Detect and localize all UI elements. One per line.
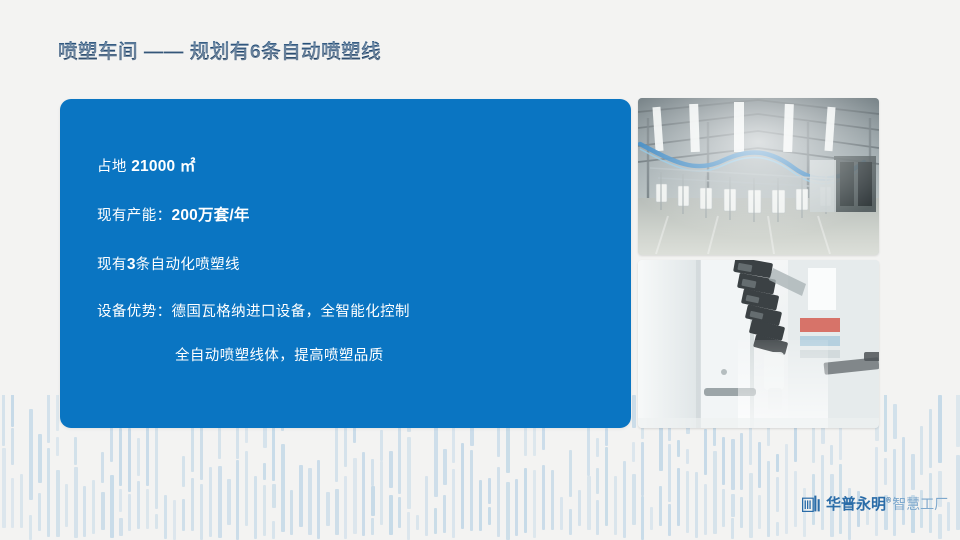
pattern-bar bbox=[281, 444, 285, 532]
info-panel: 占地 21000 ㎡ 现有产能：200万套/年 现有3条自动化喷塑线 设备优势：… bbox=[60, 99, 631, 428]
pattern-bar bbox=[893, 404, 897, 439]
pattern-bar bbox=[551, 470, 554, 530]
pattern-bar bbox=[776, 454, 779, 472]
pattern-bar bbox=[794, 471, 797, 527]
pattern-bar bbox=[29, 515, 32, 540]
panel-line-quality: 全自动喷塑线体，提高喷塑品质 bbox=[175, 349, 384, 364]
pattern-bar bbox=[434, 508, 437, 534]
pattern-bar bbox=[407, 512, 410, 540]
pattern-bar bbox=[38, 493, 41, 531]
pattern-bar bbox=[74, 437, 77, 465]
pattern-bar bbox=[119, 518, 123, 536]
registered-mark: ® bbox=[886, 497, 891, 504]
pattern-bar bbox=[506, 482, 510, 540]
pattern-bar bbox=[407, 437, 411, 509]
panel-line-3-suffix: 条自动化喷塑线 bbox=[136, 257, 240, 273]
pattern-bar bbox=[785, 444, 788, 534]
page-title: 喷塑车间 —— 规划有6条自动喷塑线 bbox=[58, 35, 381, 64]
pattern-bar bbox=[929, 409, 932, 468]
pattern-bar bbox=[686, 449, 689, 464]
pattern-bar bbox=[146, 489, 149, 529]
pattern-bar bbox=[110, 475, 114, 538]
pattern-bar bbox=[47, 395, 50, 443]
pattern-bar bbox=[263, 485, 266, 536]
pattern-bar bbox=[596, 500, 599, 535]
pattern-bar bbox=[11, 428, 14, 465]
pattern-bar bbox=[128, 494, 131, 531]
pattern-bar bbox=[740, 497, 743, 528]
pattern-bar bbox=[182, 456, 185, 487]
panel-line-3-value: 3 bbox=[127, 256, 136, 273]
pattern-bar bbox=[443, 495, 446, 533]
pattern-bar bbox=[641, 496, 644, 540]
pattern-bar bbox=[236, 460, 239, 540]
pattern-bar bbox=[137, 438, 140, 476]
pattern-bar bbox=[731, 494, 735, 517]
pattern-bar bbox=[56, 437, 59, 456]
panel-line-1-unit: ㎡ bbox=[175, 158, 195, 175]
pattern-bar bbox=[56, 395, 59, 431]
pattern-bar bbox=[722, 489, 725, 527]
pattern-bar bbox=[398, 497, 401, 528]
pattern-bar bbox=[245, 451, 248, 526]
pattern-bar bbox=[704, 484, 707, 535]
panel-line-1-value: 21000 bbox=[131, 158, 175, 175]
pattern-bar bbox=[155, 426, 158, 509]
pattern-bar bbox=[623, 461, 626, 538]
pattern-bar bbox=[488, 507, 491, 525]
coating-equipment-photo bbox=[638, 260, 879, 428]
panel-line-3-prefix: 现有 bbox=[97, 257, 127, 273]
pattern-bar bbox=[371, 518, 374, 535]
pattern-bar bbox=[425, 476, 428, 536]
slide-header: 喷塑车间 —— 规划有6条自动喷塑线 bbox=[58, 34, 381, 64]
pattern-bar bbox=[11, 478, 14, 528]
pattern-bar bbox=[452, 469, 455, 538]
pattern-bar bbox=[695, 472, 698, 538]
pattern-bar bbox=[83, 486, 86, 537]
pattern-bar bbox=[218, 466, 222, 538]
pattern-bar bbox=[956, 455, 960, 530]
pattern-bar bbox=[587, 476, 591, 530]
pattern-bar bbox=[173, 500, 176, 540]
pattern-bar bbox=[56, 470, 60, 537]
panel-line-capacity: 现有产能：200万套/年 bbox=[97, 208, 250, 224]
pattern-bar bbox=[65, 484, 68, 527]
pattern-bar bbox=[938, 514, 942, 539]
slide-canvas: 喷塑车间 —— 规划有6条自动喷塑线 占地 21000 ㎡ 现有产能：200万套… bbox=[0, 0, 960, 540]
pattern-bar bbox=[632, 474, 636, 525]
pattern-bar bbox=[920, 426, 923, 475]
brand-logo: 华普永明®智慧工厂 bbox=[802, 492, 948, 514]
pattern-bar bbox=[389, 495, 393, 535]
pattern-bar bbox=[758, 442, 761, 488]
pattern-bar bbox=[182, 499, 185, 531]
pattern-bar bbox=[38, 434, 42, 483]
pattern-bar bbox=[758, 495, 761, 529]
pattern-bar bbox=[380, 461, 383, 525]
panel-line-1-prefix: 占地 bbox=[97, 159, 131, 175]
pattern-bar bbox=[254, 476, 257, 539]
pattern-bar bbox=[704, 429, 707, 475]
pattern-bar bbox=[380, 430, 383, 461]
factory-photo-graphic bbox=[638, 98, 879, 255]
pattern-bar bbox=[497, 467, 500, 537]
pattern-bar bbox=[776, 477, 779, 512]
panel-line-existing-lines: 现有3条自动化喷塑线 bbox=[97, 257, 240, 273]
pattern-bar bbox=[605, 428, 608, 446]
pattern-bar bbox=[155, 514, 158, 529]
pattern-bar bbox=[776, 522, 779, 536]
pattern-bar bbox=[677, 468, 680, 526]
pattern-bar bbox=[119, 428, 122, 486]
pattern-bar bbox=[524, 468, 527, 533]
pattern-bar bbox=[119, 489, 122, 512]
pattern-bar bbox=[677, 440, 680, 457]
pattern-bar bbox=[362, 452, 365, 536]
pattern-bar bbox=[479, 480, 482, 531]
pattern-bar bbox=[20, 474, 23, 528]
pattern-bar bbox=[731, 439, 735, 490]
pattern-bar bbox=[659, 486, 662, 526]
pattern-bar bbox=[101, 452, 104, 483]
pattern-bar bbox=[668, 444, 671, 502]
pattern-bar bbox=[371, 459, 374, 486]
factory-building-logo-icon bbox=[802, 495, 821, 512]
pattern-bar bbox=[884, 395, 887, 452]
pattern-bar bbox=[263, 463, 266, 480]
pattern-bar bbox=[326, 492, 330, 526]
pattern-bar bbox=[74, 467, 78, 538]
pattern-bar bbox=[650, 507, 653, 530]
pattern-bar bbox=[605, 447, 608, 526]
factory-overhead-conveyor-photo bbox=[638, 98, 879, 255]
pattern-bar bbox=[767, 461, 770, 537]
pattern-bar bbox=[461, 443, 464, 529]
pattern-bar bbox=[668, 504, 671, 536]
pattern-bar bbox=[353, 458, 357, 534]
pattern-bar bbox=[227, 479, 231, 525]
pattern-bar bbox=[272, 521, 275, 539]
pattern-bar bbox=[443, 449, 447, 485]
equipment-photo-graphic bbox=[638, 260, 879, 428]
pattern-bar bbox=[578, 490, 581, 526]
pattern-bar bbox=[884, 458, 887, 485]
pattern-bar bbox=[47, 448, 50, 537]
pattern-bar bbox=[632, 395, 636, 428]
pattern-bar bbox=[614, 476, 617, 535]
pattern-bar bbox=[911, 454, 915, 490]
panel-line-2-value: 200万套/年 bbox=[172, 207, 250, 224]
pattern-bar bbox=[956, 395, 960, 447]
pattern-bar bbox=[830, 445, 833, 465]
pattern-bar bbox=[2, 448, 6, 528]
pattern-bar bbox=[686, 471, 689, 533]
pattern-bar bbox=[191, 478, 194, 531]
pattern-bar bbox=[200, 484, 203, 540]
pattern-bar bbox=[632, 442, 635, 462]
panel-line-equipment-advantage: 设备优势：德国瓦格纳进口设备，全智能化控制 bbox=[97, 305, 410, 320]
panel-line-area: 占地 21000 ㎡ bbox=[97, 159, 196, 175]
pattern-bar bbox=[749, 473, 753, 538]
brand-sub-text: 智慧工厂 bbox=[892, 496, 948, 512]
pattern-bar bbox=[569, 450, 572, 497]
pattern-bar bbox=[209, 467, 212, 537]
pattern-bar bbox=[335, 489, 339, 535]
pattern-bar bbox=[731, 518, 734, 539]
pattern-bar bbox=[11, 395, 14, 427]
pattern-bar bbox=[596, 438, 599, 457]
pattern-bar bbox=[740, 433, 743, 490]
pattern-bar bbox=[470, 450, 473, 531]
pattern-bar bbox=[128, 428, 131, 492]
brand-main-text: 华普永明 bbox=[826, 496, 886, 513]
pattern-bar bbox=[371, 486, 375, 516]
pattern-bar bbox=[416, 515, 419, 530]
pattern-bar bbox=[389, 451, 393, 488]
pattern-bar bbox=[308, 468, 312, 535]
brand-name: 华普永明®智慧工厂 bbox=[826, 493, 948, 514]
pattern-bar bbox=[29, 409, 33, 500]
pattern-bar bbox=[542, 465, 545, 530]
pattern-bar bbox=[2, 395, 5, 446]
pattern-bar bbox=[398, 418, 401, 494]
pattern-bar bbox=[290, 490, 293, 535]
pattern-bar bbox=[101, 492, 105, 530]
pattern-bar bbox=[488, 478, 491, 504]
pattern-bar bbox=[560, 497, 563, 530]
pattern-bar bbox=[299, 465, 303, 527]
pattern-bar bbox=[938, 395, 942, 463]
pattern-bar bbox=[533, 470, 536, 538]
pattern-bar bbox=[92, 480, 95, 534]
pattern-bar bbox=[272, 484, 276, 508]
panel-line-2-prefix: 现有产能： bbox=[97, 208, 172, 224]
pattern-bar bbox=[317, 460, 320, 539]
pattern-bar bbox=[344, 476, 347, 539]
pattern-bar bbox=[137, 481, 140, 529]
pattern-bar bbox=[515, 479, 518, 536]
pattern-bar bbox=[713, 451, 717, 534]
pattern-bar bbox=[722, 437, 725, 485]
pattern-bar bbox=[641, 442, 644, 496]
pattern-bar bbox=[596, 468, 599, 494]
pattern-bar bbox=[164, 495, 167, 539]
pattern-bar bbox=[659, 422, 663, 471]
pattern-bar bbox=[569, 509, 572, 535]
pattern-bar bbox=[245, 427, 248, 443]
